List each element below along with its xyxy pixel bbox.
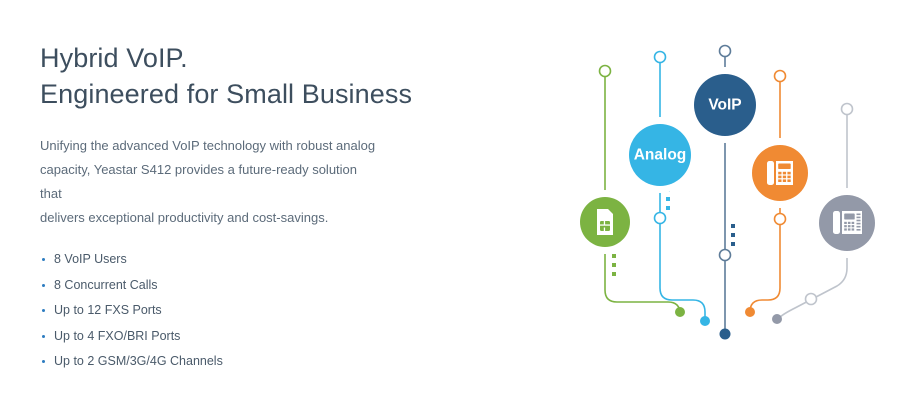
list-item: Up to 12 FXS Ports bbox=[40, 303, 460, 318]
node-ring-ipphone-top bbox=[842, 104, 853, 115]
list-item: Up to 2 GSM/3G/4G Channels bbox=[40, 354, 460, 369]
desk-phone-icon bbox=[767, 161, 793, 185]
node-ring-ipphone-mid bbox=[806, 294, 817, 305]
endpoint-dot-ipphone bbox=[772, 314, 782, 324]
list-item: 8 Concurrent Calls bbox=[40, 278, 460, 293]
dot-separator-voip bbox=[731, 224, 735, 246]
diagram-node-fxs[interactable] bbox=[745, 138, 815, 208]
node-ring-analog-top bbox=[655, 52, 666, 63]
page-title: Hybrid VoIP. Engineered for Small Busine… bbox=[40, 40, 460, 112]
node-ring-voip-mid bbox=[720, 250, 731, 261]
sim-card-icon bbox=[597, 209, 613, 235]
intro-line-1: Unifying the advanced VoIP technology wi… bbox=[40, 134, 380, 158]
spec-list: 8 VoIP Users 8 Concurrent Calls Up to 12… bbox=[40, 252, 460, 369]
node-ring-fxs-mid bbox=[775, 214, 786, 225]
diagram-node-ipphone[interactable] bbox=[812, 188, 882, 258]
diagram-node-analog[interactable]: Analog bbox=[622, 117, 698, 193]
diagram-node-voip[interactable]: VoIP bbox=[687, 67, 763, 143]
node-ring-voip-top bbox=[720, 46, 731, 57]
endpoint-dot-gsm bbox=[675, 307, 685, 317]
endpoint-dot-fxs bbox=[745, 307, 755, 317]
intro-paragraph: Unifying the advanced VoIP technology wi… bbox=[40, 134, 380, 230]
node-label-voip: VoIP bbox=[708, 97, 741, 114]
list-item: 8 VoIP Users bbox=[40, 252, 460, 267]
intro-line-2: capacity, Yeastar S412 provides a future… bbox=[40, 158, 380, 206]
ip-phone-icon bbox=[833, 211, 862, 234]
hero-banner: Hybrid VoIP. Engineered for Small Busine… bbox=[0, 0, 900, 415]
node-ring-fxs-top bbox=[775, 71, 786, 82]
endpoint-dot-voip bbox=[720, 329, 731, 340]
headline-line-1: Hybrid VoIP. bbox=[40, 40, 460, 76]
endpoint-dot-analog bbox=[700, 316, 710, 326]
node-ring-gsm-top bbox=[600, 66, 611, 77]
node-label-analog: Analog bbox=[634, 147, 687, 164]
dot-separator-gsm bbox=[612, 254, 616, 276]
hybrid-voip-diagram: Analog VoIP bbox=[555, 40, 900, 385]
intro-line-3: delivers exceptional productivity and co… bbox=[40, 206, 380, 230]
diagram-node-gsm[interactable] bbox=[573, 190, 637, 254]
node-ring-analog-mid bbox=[655, 213, 666, 224]
headline-line-2: Engineered for Small Business bbox=[40, 76, 460, 112]
copy-column: Hybrid VoIP. Engineered for Small Busine… bbox=[40, 40, 460, 380]
list-item: Up to 4 FXO/BRI Ports bbox=[40, 329, 460, 344]
